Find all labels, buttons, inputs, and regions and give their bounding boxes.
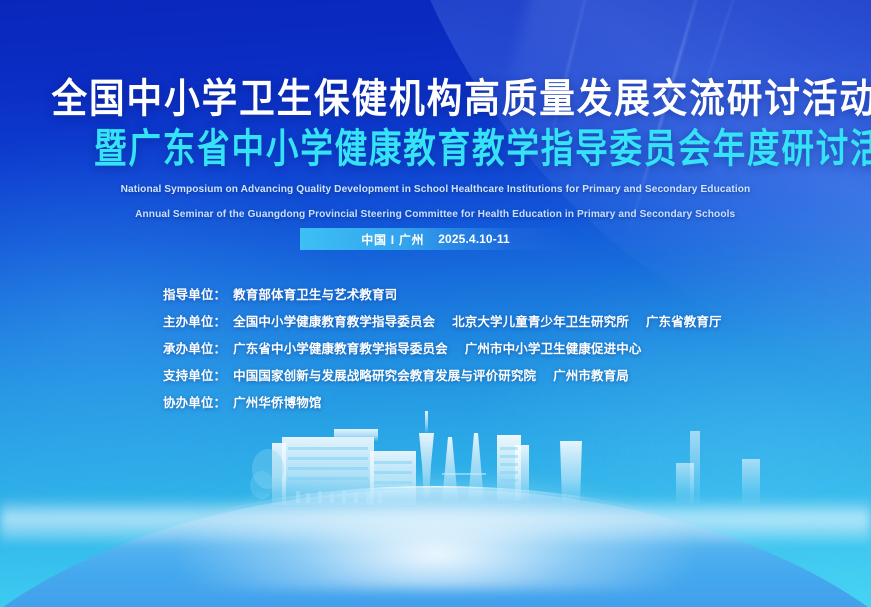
organizer-label: 协办单位： bbox=[163, 392, 226, 411]
organizer-values: 广东省中小学健康教育教学指导委员会广州市中小学卫生健康促进中心 bbox=[233, 338, 641, 357]
organizer-values: 教育部体育卫生与艺术教育司 bbox=[233, 284, 397, 303]
right-tower-short-icon bbox=[742, 459, 760, 503]
subtitle-en-line1: National Symposium on Advancing Quality … bbox=[121, 182, 751, 197]
organizer-row: 承办单位：广东省中小学健康教育教学指导委员会广州市中小学卫生健康促进中心 bbox=[163, 338, 722, 365]
organizer-label: 指导单位： bbox=[163, 284, 226, 303]
page-title: 全国中小学卫生保健机构高质量发展交流研讨活动 bbox=[52, 76, 871, 122]
organizer-value: 广州华侨博物馆 bbox=[233, 392, 321, 411]
organizer-value: 北京大学儿童青少年卫生研究所 bbox=[452, 311, 629, 330]
banner-date: 2025.4.10-11 bbox=[438, 232, 510, 246]
organizer-values: 全国中小学健康教育教学指导委员会北京大学儿童青少年卫生研究所广东省教育厅 bbox=[233, 311, 722, 330]
organizer-value: 广东省中小学健康教育教学指导委员会 bbox=[233, 338, 448, 357]
organizer-value: 广州市教育局 bbox=[553, 365, 629, 384]
organizer-label: 主办单位： bbox=[163, 311, 226, 330]
organizer-row: 协办单位：广州华侨博物馆 bbox=[163, 392, 722, 419]
page-subtitle-cn: 暨广东省中小学健康教育教学指导委员会年度研讨活动 bbox=[94, 126, 871, 172]
organizer-values: 中国国家创新与发展战略研究会教育发展与评价研究院广州市教育局 bbox=[233, 365, 629, 384]
conference-poster: 全国中小学卫生保健机构高质量发展交流研讨活动 暨广东省中小学健康教育教学指导委员… bbox=[0, 0, 871, 607]
horizon-center-glow bbox=[176, 470, 696, 590]
organizer-label: 支持单位： bbox=[163, 365, 226, 384]
organizer-label: 承办单位： bbox=[163, 338, 226, 357]
organizer-values: 广州华侨博物馆 bbox=[233, 392, 321, 411]
banner-content: 中国 I 广州 2025.4.10-11 bbox=[361, 231, 510, 248]
organizer-value: 广东省教育厅 bbox=[646, 311, 722, 330]
banner-location: 中国 I 广州 bbox=[361, 231, 424, 248]
organizer-row: 支持单位：中国国家创新与发展战略研究会教育发展与评价研究院广州市教育局 bbox=[163, 365, 722, 392]
date-location-banner: 中国 I 广州 2025.4.10-11 bbox=[0, 228, 871, 250]
title-block: 全国中小学卫生保健机构高质量发展交流研讨活动 暨广东省中小学健康教育教学指导委员… bbox=[0, 76, 871, 222]
organizer-value: 教育部体育卫生与艺术教育司 bbox=[233, 284, 397, 303]
organizer-value: 中国国家创新与发展战略研究会教育发展与评价研究院 bbox=[233, 365, 536, 384]
organizer-value: 全国中小学健康教育教学指导委员会 bbox=[233, 311, 435, 330]
organizer-value: 广州市中小学卫生健康促进中心 bbox=[465, 338, 642, 357]
organizer-row: 指导单位：教育部体育卫生与艺术教育司 bbox=[163, 284, 722, 311]
banner-bar: 中国 I 广州 2025.4.10-11 bbox=[300, 228, 572, 250]
subtitle-en-line2: Annual Seminar of the Guangdong Provinci… bbox=[135, 207, 735, 222]
organizer-row: 主办单位：全国中小学健康教育教学指导委员会北京大学儿童青少年卫生研究所广东省教育… bbox=[163, 311, 722, 338]
organizer-list: 指导单位：教育部体育卫生与艺术教育司主办单位：全国中小学健康教育教学指导委员会北… bbox=[163, 284, 722, 419]
